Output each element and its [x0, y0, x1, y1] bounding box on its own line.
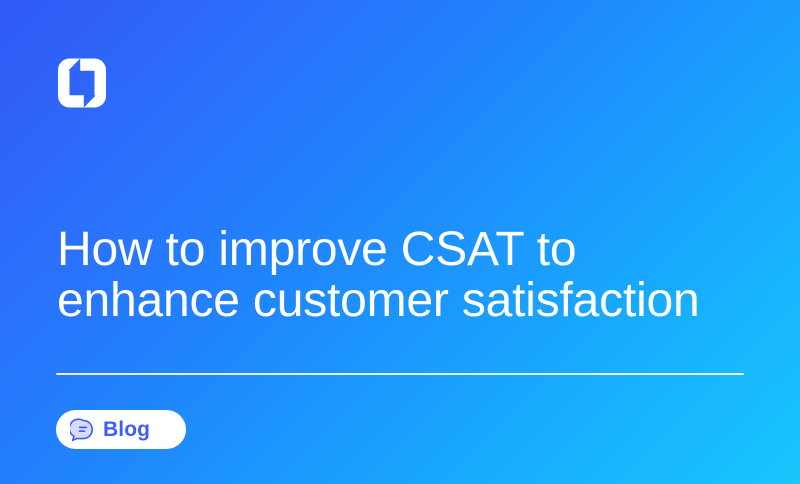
- divider: [56, 373, 744, 375]
- page-title: How to improve CSAT to enhance customer …: [57, 224, 757, 326]
- speech-bubble-icon: [70, 418, 94, 442]
- blog-badge[interactable]: Blog: [56, 410, 186, 449]
- brand-logo[interactable]: [56, 57, 108, 109]
- blog-badge-label: Blog: [103, 419, 150, 440]
- blog-hero-card: How to improve CSAT to enhance customer …: [0, 0, 800, 484]
